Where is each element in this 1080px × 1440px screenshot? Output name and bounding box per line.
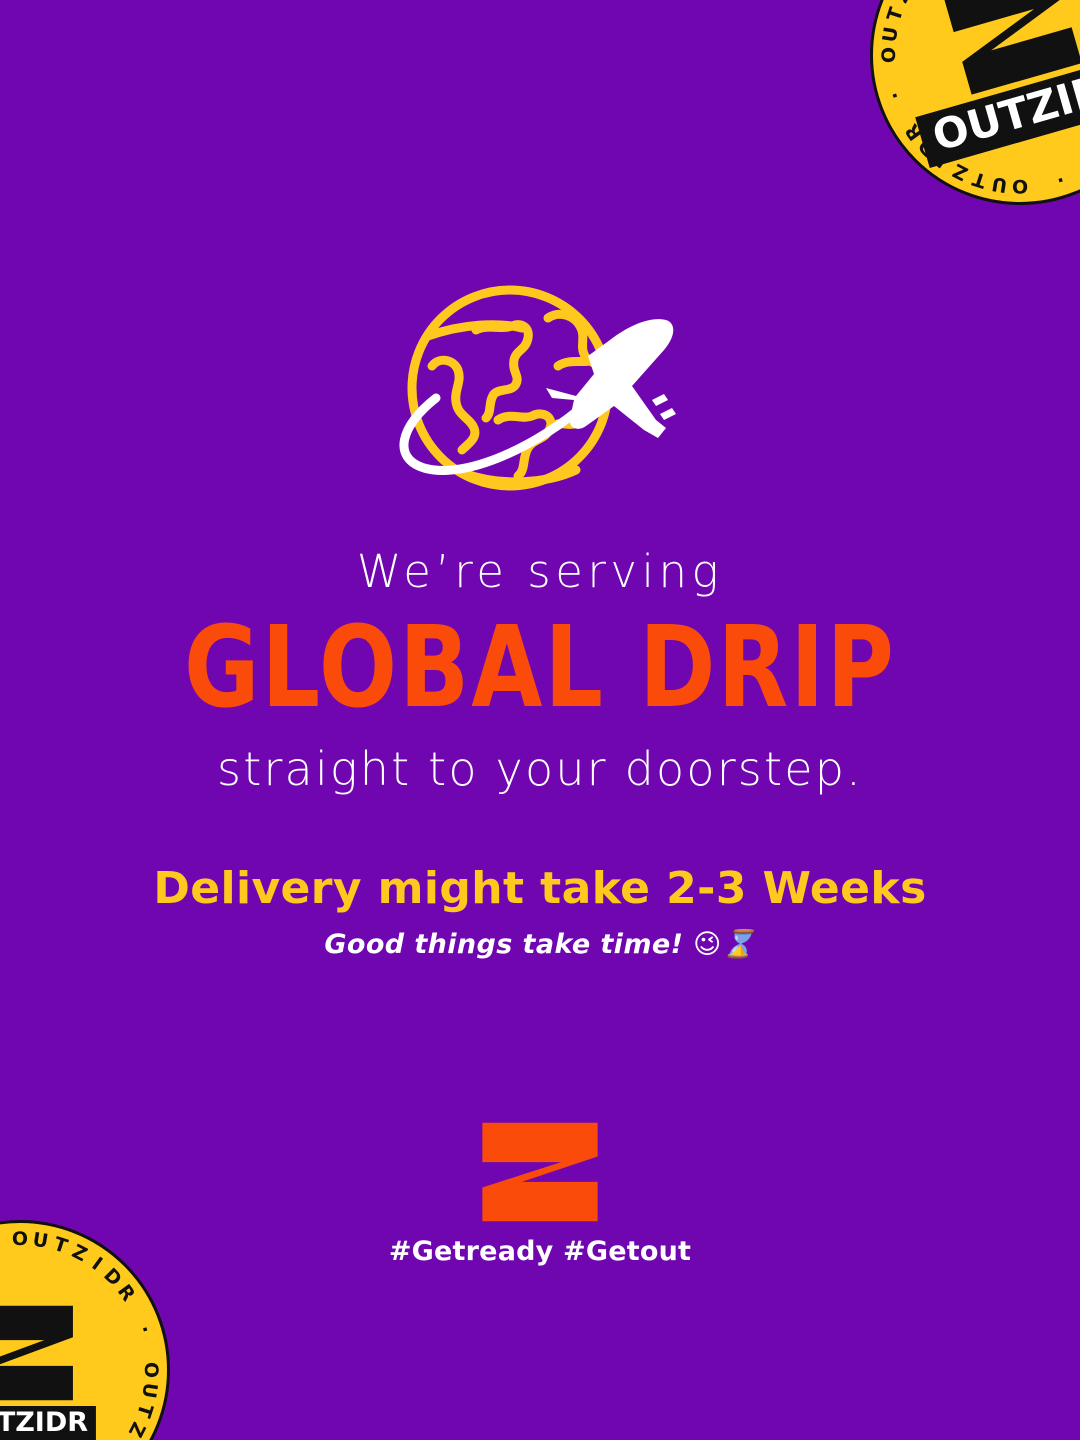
badge-ring-char: Z xyxy=(124,1418,150,1440)
badge-ring-char xyxy=(879,71,902,81)
badge-ring-char: O xyxy=(140,1362,162,1378)
badge-ring-char xyxy=(125,1303,148,1319)
badge-ring-char: O xyxy=(1012,175,1028,197)
badge-core-bottom-left: OUTZIDR xyxy=(0,1300,96,1440)
badge-ring-char: T xyxy=(970,167,989,192)
badge-ring-char xyxy=(1072,160,1080,183)
z-logo-icon xyxy=(478,1120,602,1224)
footer-block: #Getready #Getout xyxy=(0,1120,1080,1267)
badge-ring-char xyxy=(892,107,915,123)
subline-text: straight to your doorstep. xyxy=(0,744,1080,795)
eyebrow-text: We’re serving xyxy=(0,548,1080,597)
badge-ring-char xyxy=(138,1345,161,1355)
badge-ring-char: · xyxy=(133,1323,156,1337)
hashtags-text: #Getready #Getout xyxy=(0,1236,1080,1267)
copy-block: We’re serving GLOBAL DRIP straight to yo… xyxy=(0,548,1080,960)
globe-airplane-illustration xyxy=(370,278,710,503)
badge-ring-char: · xyxy=(884,89,907,103)
badge-ring-char: Z xyxy=(949,159,971,185)
badge-ring-char: · xyxy=(1054,168,1068,191)
reassurance-text: Good things take time! 😉⌛ xyxy=(0,928,1080,960)
badge-wordmark-bottom-left: OUTZIDR xyxy=(0,1406,96,1440)
badge-ring-char: U xyxy=(990,172,1009,196)
badge-ring-char: U xyxy=(137,1381,161,1400)
poster-canvas: OUTZIDR · OUTZIDR · OUTZIDR · OUTZIDR · … xyxy=(0,0,1080,1440)
delivery-notice-text: Delivery might take 2-3 Weeks xyxy=(0,863,1080,914)
globe-with-airplane-icon xyxy=(370,278,710,503)
badge-ring-char xyxy=(1036,173,1046,196)
headline-text: GLOBAL DRIP xyxy=(0,607,1080,728)
badge-top-right: OUTZIDR · OUTZIDR · OUTZIDR · OUTZIDR · … xyxy=(870,0,1080,205)
z-logo-icon xyxy=(0,1300,84,1406)
badge-ring-char: T xyxy=(132,1401,157,1420)
